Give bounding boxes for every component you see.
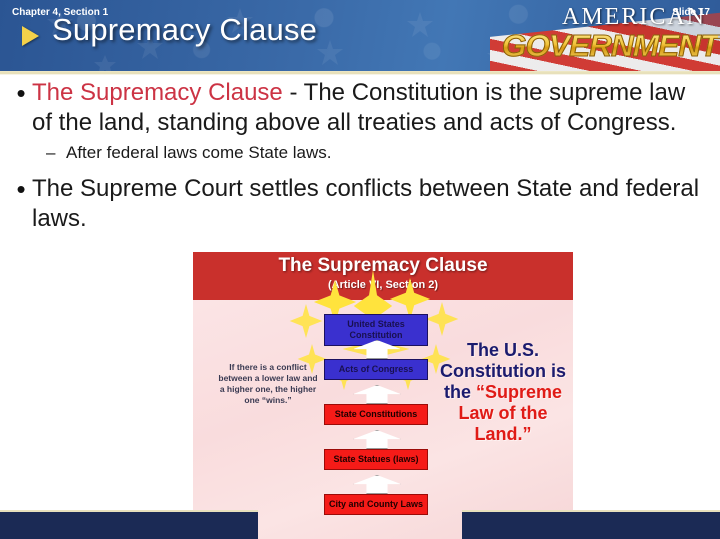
bullet-marker: • bbox=[10, 78, 32, 108]
slide-body: • The Supremacy Clause - The Constitutio… bbox=[0, 78, 720, 234]
logo-line-government: GOVERNMENT bbox=[502, 28, 718, 64]
arrow-up-icon bbox=[353, 475, 401, 494]
diagram-title: The Supremacy Clause bbox=[193, 255, 573, 277]
hierarchy-box-city-county-laws: City and County Laws bbox=[324, 494, 428, 515]
footer-right-bar bbox=[462, 510, 720, 539]
claim-red-text: “Supreme Law of the Land.” bbox=[459, 382, 563, 444]
conflict-note: If there is a conflict between a lower l… bbox=[215, 362, 321, 406]
bullet-item: • The Supremacy Clause - The Constitutio… bbox=[0, 78, 720, 138]
triangle-right-icon bbox=[22, 26, 39, 46]
sub-bullet-text: After federal laws come State laws. bbox=[66, 142, 332, 164]
bullet-text: The Supreme Court settles conflicts betw… bbox=[32, 174, 704, 234]
starburst-icon bbox=[289, 304, 323, 338]
diagram-subtitle: (Article VI, Section 2) bbox=[193, 279, 573, 291]
bullet-item: • The Supreme Court settles conflicts be… bbox=[0, 174, 720, 234]
hierarchy-box-state-statues: State Statues (laws) bbox=[324, 449, 428, 470]
sub-bullet-item: – After federal laws come State laws. bbox=[0, 138, 720, 164]
bullet-text: The Supremacy Clause - The Constitution … bbox=[32, 78, 704, 138]
footer-slide-number: Slide 17 bbox=[672, 7, 710, 18]
starburst-icon bbox=[425, 302, 459, 336]
sub-bullet-marker: – bbox=[46, 142, 66, 164]
header-divider bbox=[0, 71, 720, 75]
arrow-up-icon bbox=[353, 385, 401, 404]
bullet-highlight: The Supremacy Clause bbox=[32, 79, 283, 106]
hierarchy-box-acts-of-congress: Acts of Congress bbox=[324, 359, 428, 380]
footer-left-bar bbox=[0, 510, 258, 539]
bullet-marker: • bbox=[10, 174, 32, 204]
diagram-claim: The U.S. Constitution is the “Supreme La… bbox=[436, 340, 570, 445]
supremacy-clause-diagram: The Supremacy Clause (Article VI, Sectio… bbox=[193, 252, 573, 539]
hierarchy-box-state-constitutions: State Constitutions bbox=[324, 404, 428, 425]
footer-chapter-label: Chapter 4, Section 1 bbox=[12, 7, 108, 18]
arrow-up-icon bbox=[353, 430, 401, 449]
